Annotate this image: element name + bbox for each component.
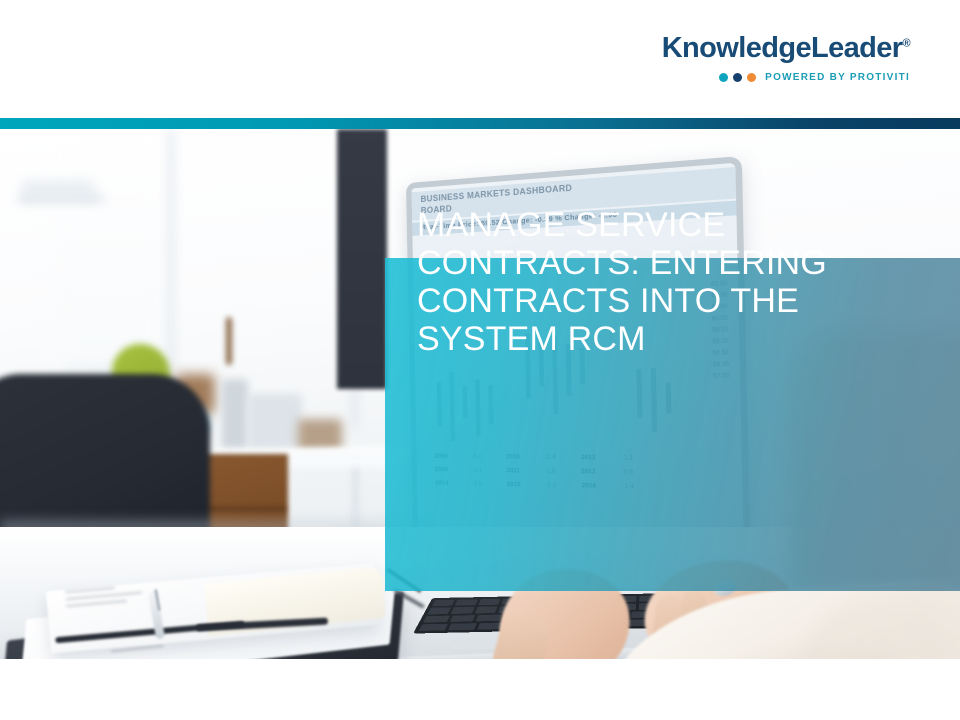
monitor-back-panel [337,129,387,389]
desk-object-a [222,379,248,449]
desk-object-c [298,419,342,451]
page-footer [0,659,960,720]
brand-logo[interactable]: KnowledgeLeader® POWERED BY PROTIVITI [662,34,910,83]
ceiling-lamp-secondary [18,195,104,203]
brand-dot-navy-icon [733,73,742,82]
brand-dot-orange-icon [747,73,756,82]
desk-pen-holder [226,317,232,365]
logo-wordmark-text: KnowledgeLeader [662,32,903,64]
registered-trademark-icon: ® [902,37,910,49]
logo-tagline: POWERED BY PROTIVITI [765,72,910,83]
desk-object-b [248,394,302,450]
accent-gradient-bar [0,118,960,129]
brand-dot-teal-icon [719,73,728,82]
brand-dots [719,73,756,82]
page-title: Manage Service Contracts: Entering Contr… [417,206,887,358]
logo-tagline-row: POWERED BY PROTIVITI [662,72,910,83]
logo-wordmark: KnowledgeLeader® [662,34,910,63]
slide-cover: KnowledgeLeader® POWERED BY PROTIVITI [0,0,960,720]
page-header: KnowledgeLeader® POWERED BY PROTIVITI [0,0,960,118]
